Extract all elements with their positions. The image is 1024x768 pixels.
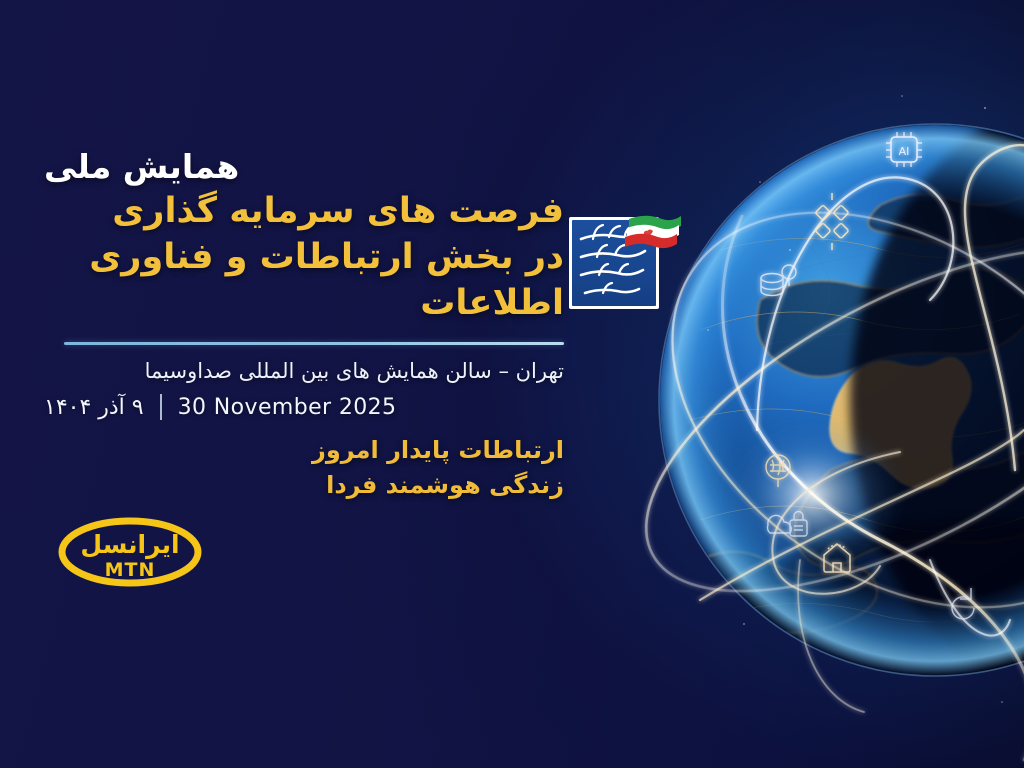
- iran-highlight: [830, 357, 971, 488]
- title-line-3: در بخش ارتباطات و فناوری اطلاعات: [44, 234, 564, 326]
- database-icon: [761, 265, 796, 296]
- svg-text:AI: AI: [899, 145, 910, 158]
- venue-text: تهران – سالن همایش های بین المللی صداوسی…: [44, 359, 564, 383]
- date-separator: [160, 394, 162, 420]
- date-persian: ۹ آذر ۱۴۰۴: [44, 395, 144, 420]
- irancell-mtn-logo: ایرانسل MTN: [52, 516, 208, 588]
- smart-home-icon: [824, 544, 850, 572]
- title-line-2: فرصت های سرمایه گذاری: [44, 188, 564, 234]
- date-row: ۹ آذر ۱۴۰۴ 30 November 2025: [44, 394, 564, 420]
- poster-title: همایش ملی فرصت های سرمایه گذاری در بخش ا…: [44, 146, 564, 326]
- brain-icon: [766, 455, 790, 487]
- slogan: ارتباطات پایدار امروز زندگی هوشمند فردا: [44, 433, 564, 503]
- ai-chip-icon: AI: [886, 132, 922, 167]
- slogan-line-2: زندگی هوشمند فردا: [44, 468, 564, 503]
- irancell-brand-en: MTN: [105, 559, 156, 581]
- satellite-icon: [815, 193, 849, 250]
- ministry-of-ict-logo: [563, 207, 683, 312]
- divider: [64, 342, 564, 345]
- title-line-1: همایش ملی: [44, 146, 564, 188]
- conference-poster: AI: [0, 0, 1024, 768]
- date-gregorian: 30 November 2025: [178, 395, 397, 420]
- slogan-line-1: ارتباطات پایدار امروز: [44, 433, 564, 468]
- refresh-icon: [952, 588, 974, 619]
- cloud-lock-icon: [767, 512, 807, 537]
- irancell-brand-fa: ایرانسل: [80, 530, 179, 560]
- poster-content: همایش ملی فرصت های سرمایه گذاری در بخش ا…: [44, 146, 564, 503]
